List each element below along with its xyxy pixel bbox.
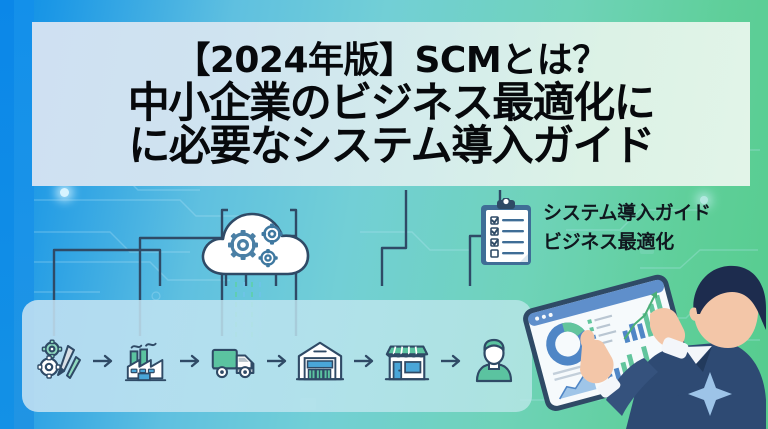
guide-label-1: システム導入ガイド [543,199,711,228]
supply-chain-node-raw-materials [36,335,84,387]
arrow-right-icon [440,353,462,369]
arrow-right-icon [353,353,375,369]
supply-chain-node-manufacturing [123,335,171,387]
supply-chain-node-transport [210,335,258,387]
warehouse-icon [296,338,344,384]
supply-chain-node-retail [383,335,431,387]
title-line-3: に必要なシステム導入ガイド [128,124,653,168]
supply-chain-node-warehouse [296,335,344,387]
cloud-gears-icon [196,206,326,286]
businessman-tablet-scene [498,252,768,429]
title-line-1: 【2024年版】SCMとは？ [174,42,607,79]
factory-icon [123,337,171,385]
truck-icon [210,340,258,382]
gears-tools-icon [36,337,84,385]
arrow-right-icon [179,353,201,369]
title-panel: 【2024年版】SCMとは？ 中小企業のビジネス最適化に に必要なシステム導入ガ… [32,22,750,186]
title-line-2: 中小企業のビジネス最適化に [128,81,655,125]
arrow-right-icon [266,353,288,369]
guide-labels: システム導入ガイド ビジネス最適化 [543,196,711,258]
thumbnail-canvas: 【2024年版】SCMとは？ 中小企業のビジネス最適化に に必要なシステム導入ガ… [0,0,768,429]
storefront-icon [383,338,431,384]
supply-chain-flow [22,330,532,392]
arrow-right-icon [92,353,114,369]
